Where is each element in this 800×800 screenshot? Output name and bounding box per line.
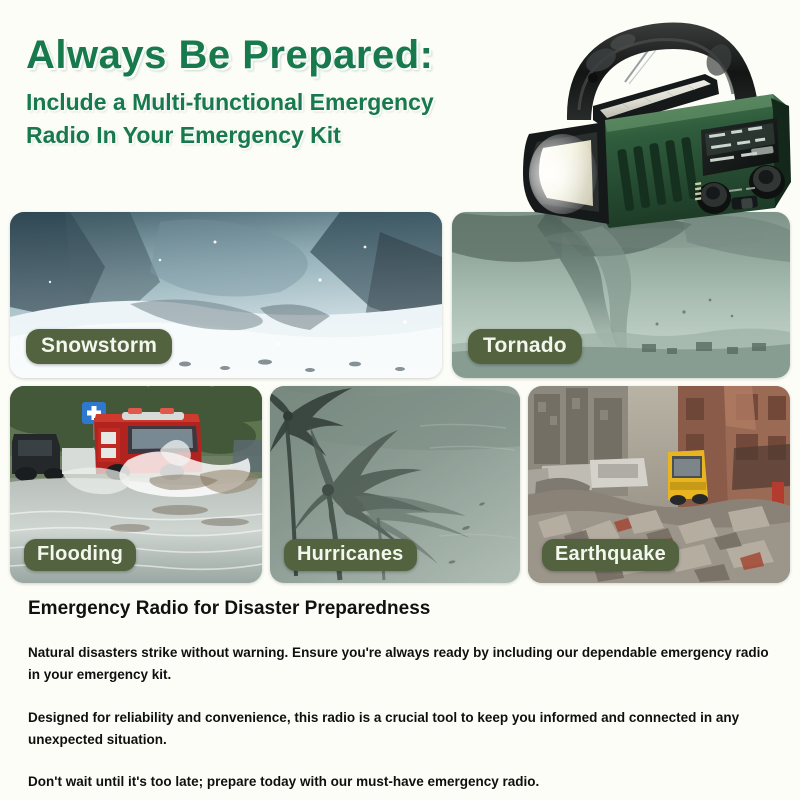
led-flashlight xyxy=(523,122,609,224)
tile-label-snowstorm: Snowstorm xyxy=(26,329,172,364)
emergency-radio-illustration xyxy=(505,2,800,252)
tile-snowstorm[interactable]: Snowstorm xyxy=(10,212,442,378)
tile-earthquake[interactable]: Earthquake xyxy=(528,386,790,583)
volume-knob xyxy=(749,165,785,199)
page-subtitle-line-1: Include a Multi-functional Emergency xyxy=(26,86,546,119)
description-section: Emergency Radio for Disaster Preparednes… xyxy=(28,598,776,793)
promo-page: Always Be Prepared: Include a Multi-func… xyxy=(0,0,800,800)
header: Always Be Prepared: Include a Multi-func… xyxy=(26,34,546,151)
description-heading: Emergency Radio for Disaster Preparednes… xyxy=(28,598,776,620)
description-paragraph-2: Designed for reliability and convenience… xyxy=(28,707,776,751)
page-title: Always Be Prepared: xyxy=(26,34,546,76)
description-paragraph-1: Natural disasters strike without warning… xyxy=(28,642,776,686)
product-image-emergency-radio[interactable] xyxy=(505,2,800,252)
tile-label-hurricanes: Hurricanes xyxy=(284,539,417,571)
tile-label-flooding: Flooding xyxy=(24,539,136,571)
tile-flooding[interactable]: Flooding xyxy=(10,386,262,583)
tile-label-tornado: Tornado xyxy=(468,329,582,364)
tile-label-earthquake: Earthquake xyxy=(542,539,679,571)
tile-hurricanes[interactable]: Hurricanes xyxy=(270,386,520,583)
tuning-knob xyxy=(697,182,731,214)
description-paragraph-3: Don't wait until it's too late; prepare … xyxy=(28,771,776,793)
page-subtitle-line-2: Radio In Your Emergency Kit xyxy=(26,119,546,152)
